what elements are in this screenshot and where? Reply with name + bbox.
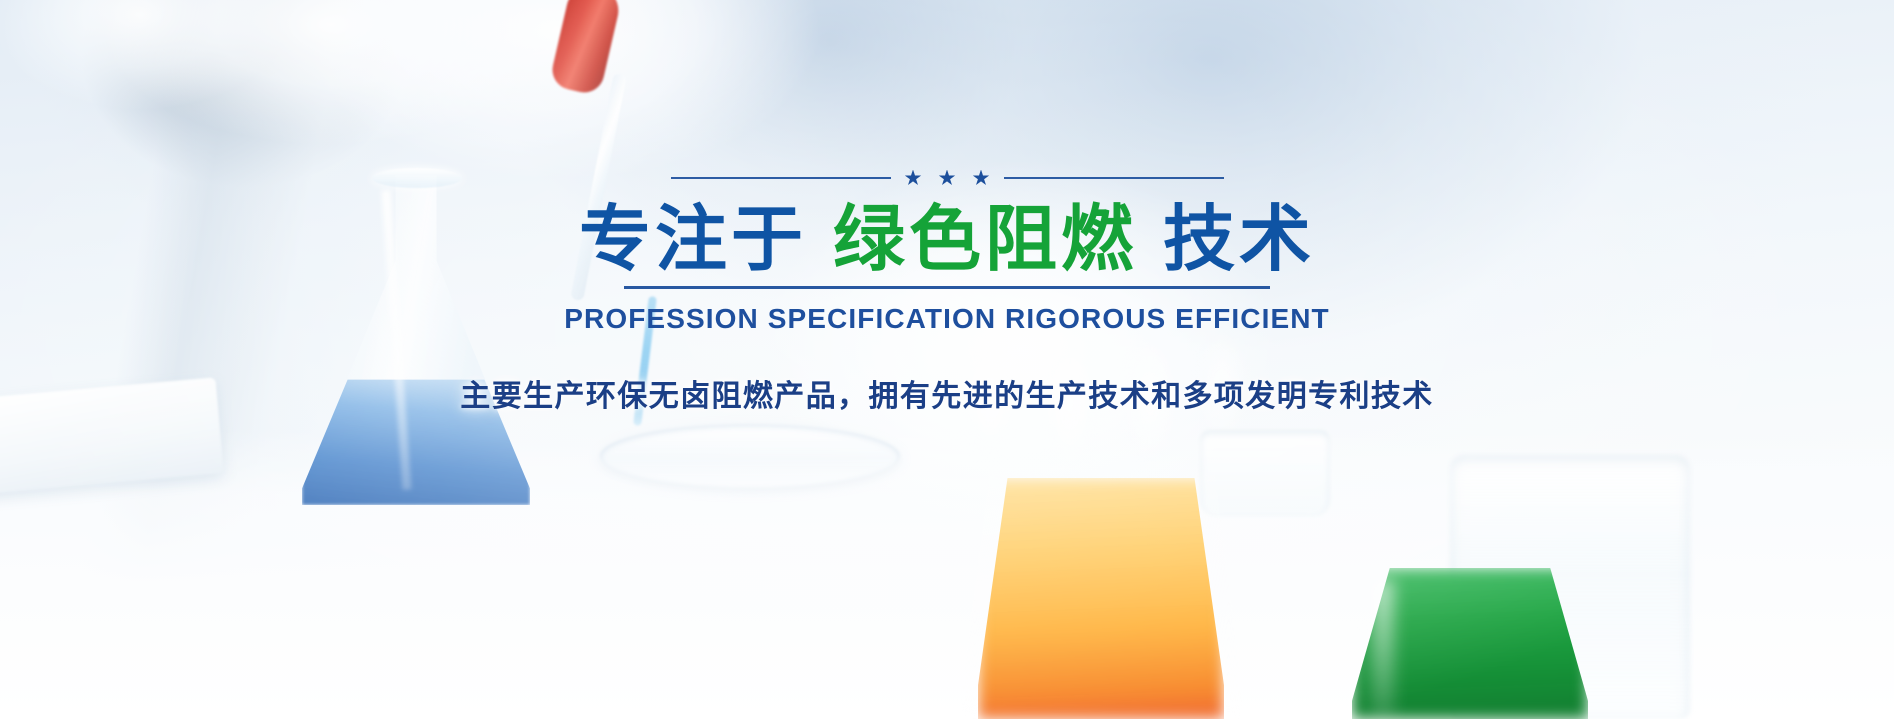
divider-line-left — [671, 177, 891, 179]
green-flask-highlight — [1372, 580, 1394, 719]
headline-underline — [624, 286, 1270, 289]
subtitle-english: PROFESSION SPECIFICATION RIGOROUS EFFICI… — [564, 303, 1330, 335]
divider-with-stars — [671, 166, 1224, 190]
green-flask-liquid — [1352, 568, 1588, 719]
star-icon — [939, 170, 956, 187]
star-group — [905, 170, 990, 187]
headline: 专注于 绿色阻燃 技术 — [579, 204, 1315, 276]
lab-bench-surface — [0, 430, 1894, 719]
hero-banner: 专注于 绿色阻燃 技术 PROFESSION SPECIFICATION RIG… — [0, 0, 1894, 719]
orange-flask-glass — [962, 470, 1242, 719]
headline-part-3: 技术 — [1163, 204, 1315, 276]
orange-flask-liquid — [978, 478, 1224, 719]
beaker-clear-small — [1200, 430, 1330, 516]
description-chinese: 主要生产环保无卤阻燃产品，拥有先进的生产技术和多项发明专利技术 — [460, 371, 1433, 415]
beaker-clear-large — [1450, 455, 1690, 719]
banner-content: 专注于 绿色阻燃 技术 PROFESSION SPECIFICATION RIG… — [0, 166, 1894, 415]
star-icon — [973, 170, 990, 187]
petri-dish — [600, 424, 900, 488]
headline-part-1: 专注于 — [579, 204, 807, 276]
divider-line-right — [1004, 177, 1224, 179]
star-icon — [905, 170, 922, 187]
headline-part-2: 绿色阻燃 — [833, 204, 1137, 276]
pipette-bulb-icon — [549, 0, 624, 96]
